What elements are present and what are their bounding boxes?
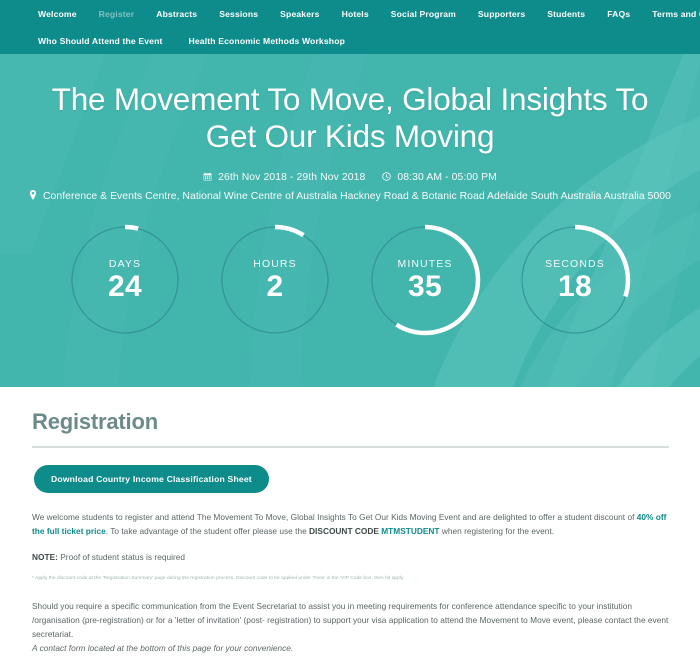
nav-item-students[interactable]: Students [547,10,585,19]
nav-item-faqs[interactable]: FAQs [607,10,630,19]
note-text: Proof of student status is required [58,552,185,562]
proof-note: NOTE: Proof of student status is require… [32,550,670,564]
nav-item-who-should-attend[interactable]: Who Should Attend the Event [38,37,163,46]
days-label: DAYS [109,258,141,270]
hours-value: 2 [267,271,284,303]
contact-form-note: A contact form located at the bottom of … [32,643,293,653]
nav-row-secondary: Who Should Attend the Event Health Econo… [0,28,700,54]
nav-item-hotels[interactable]: Hotels [342,10,369,19]
days-text: DAYS 24 [68,223,182,337]
nav-item-supporters[interactable]: Supporters [478,10,525,19]
days-value: 24 [108,271,142,303]
note-label: NOTE: [32,552,58,562]
clock-icon [382,172,391,184]
nav-row-primary: Welcome Register Abstracts Sessions Spea… [0,0,700,28]
discount-text-part1: We welcome students to register and atte… [32,512,637,522]
map-pin-icon [29,190,37,203]
calendar-icon [203,172,212,184]
nav-item-sessions[interactable]: Sessions [219,10,258,19]
countdown-unit-seconds: SECONDS 18 [518,223,632,337]
student-discount-paragraph: We welcome students to register and atte… [32,510,670,539]
discount-text-part3: when registering for the event. [440,526,555,536]
countdown-unit-hours: HOURS 2 [218,223,332,337]
hero-content: The Movement To Move, Global Insights To… [0,54,700,337]
registration-section: Registration Download Country Income Cla… [0,387,700,656]
secretariat-paragraph: Should you require a specific communicat… [32,599,670,656]
countdown-timer: DAYS 24 HOURS 2 [0,223,700,337]
hero-banner: The Movement To Move, Global Insights To… [0,54,700,387]
title-divider [32,446,669,448]
seconds-text: SECONDS 18 [518,223,632,337]
nav-item-social-program[interactable]: Social Program [391,10,456,19]
countdown-unit-days: DAYS 24 [68,223,182,337]
nav-item-abstracts[interactable]: Abstracts [156,10,197,19]
seconds-label: SECONDS [545,258,605,270]
hours-text: HOURS 2 [218,223,332,337]
hero-title: The Movement To Move, Global Insights To… [35,81,665,155]
page-title: Registration [32,409,670,435]
discount-code-value: MTMSTUDENT [381,526,439,536]
discount-text-part2: . To take advantage of the student offer… [106,526,309,536]
discount-fineprint: * Apply the discount code at the 'Regist… [32,575,670,583]
minutes-label: MINUTES [398,258,453,270]
minutes-value: 35 [408,271,442,303]
nav-item-health-economic-methods-workshop[interactable]: Health Economic Methods Workshop [189,37,345,46]
hero-event-location: Conference & Events Centre, National Win… [0,190,700,203]
hero-event-datetime: 26th Nov 2018 - 29th Nov 2018 08:30 AM -… [0,172,700,184]
secretariat-text: Should you require a specific communicat… [32,601,668,640]
nav-item-welcome[interactable]: Welcome [38,10,77,19]
main-navigation: Welcome Register Abstracts Sessions Spea… [0,0,700,54]
minutes-text: MINUTES 35 [368,223,482,337]
hero-location-text: Conference & Events Centre, National Win… [43,191,671,202]
seconds-value: 18 [558,271,592,303]
download-country-income-sheet-button[interactable]: Download Country Income Classification S… [34,465,269,493]
hero-dates: 26th Nov 2018 - 29th Nov 2018 [218,172,365,183]
hours-label: HOURS [253,258,296,270]
countdown-unit-minutes: MINUTES 35 [368,223,482,337]
hero-times: 08:30 AM - 05:00 PM [397,172,497,183]
nav-item-speakers[interactable]: Speakers [280,10,319,19]
nav-item-terms-and-conditions[interactable]: Terms and Conditions [652,10,700,19]
nav-item-register[interactable]: Register [99,10,135,19]
discount-code-label: DISCOUNT CODE [309,526,381,536]
